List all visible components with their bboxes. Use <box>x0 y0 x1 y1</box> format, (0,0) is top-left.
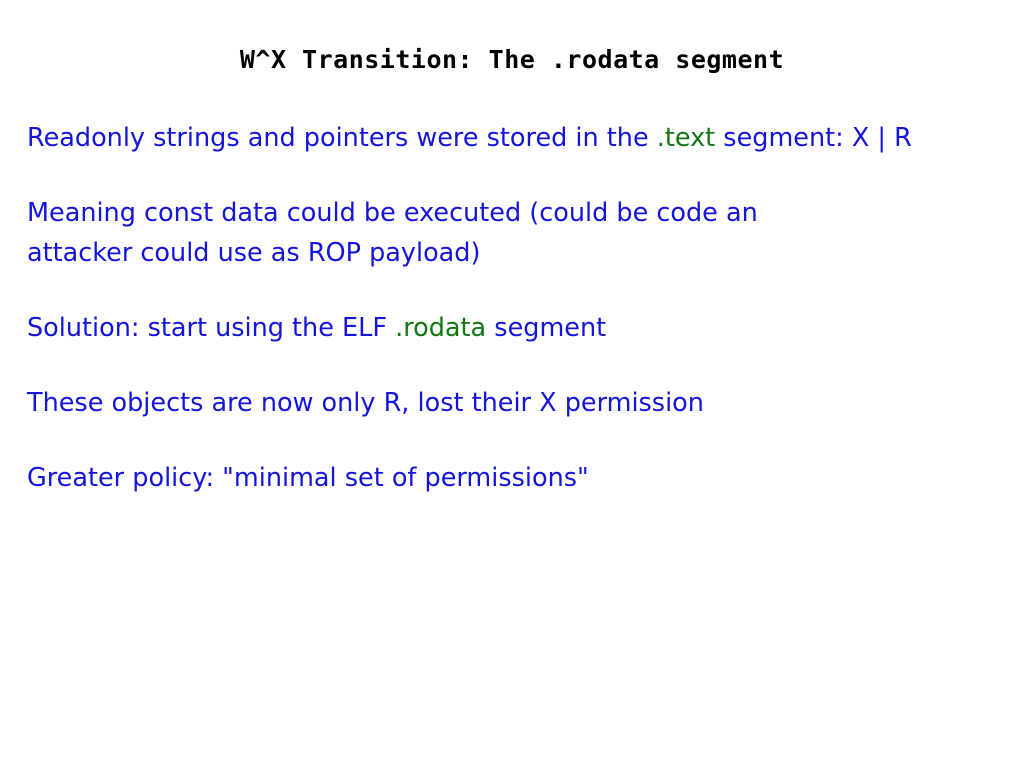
paragraph-readonly-strings: Readonly strings and pointers were store… <box>27 118 997 158</box>
slide-canvas: W^X Transition: The .rodata segment Read… <box>0 0 1024 768</box>
text-token: Readonly strings and pointers were store… <box>27 123 657 153</box>
text-token: Greater policy: "minimal set of permissi… <box>27 463 589 493</box>
paragraph-line: Solution: start using the ELF .rodata se… <box>27 308 997 348</box>
paragraph-objects-read-only: These objects are now only R, lost their… <box>27 383 997 423</box>
text-token: Meaning const data could be executed (co… <box>27 198 758 228</box>
slide-title: W^X Transition: The .rodata segment <box>0 45 1024 74</box>
paragraph-line: These objects are now only R, lost their… <box>27 383 997 423</box>
slide-body: Readonly strings and pointers were store… <box>27 118 997 498</box>
text-token: attacker could use as ROP payload) <box>27 238 480 268</box>
segment-name-token: .text <box>657 123 715 153</box>
text-token: Solution: start using the ELF <box>27 313 395 343</box>
text-token: segment: X | R <box>715 123 912 153</box>
paragraph-greater-policy: Greater policy: "minimal set of permissi… <box>27 458 997 498</box>
paragraph-line: attacker could use as ROP payload) <box>27 233 997 273</box>
paragraph-line: Meaning const data could be executed (co… <box>27 193 997 233</box>
text-token: segment <box>486 313 606 343</box>
segment-name-token: .rodata <box>395 313 486 343</box>
paragraph-const-data-executable: Meaning const data could be executed (co… <box>27 193 997 273</box>
text-token: These objects are now only R, lost their… <box>27 388 704 418</box>
paragraph-solution-rodata: Solution: start using the ELF .rodata se… <box>27 308 997 348</box>
paragraph-line: Greater policy: "minimal set of permissi… <box>27 458 997 498</box>
paragraph-line: Readonly strings and pointers were store… <box>27 118 997 158</box>
